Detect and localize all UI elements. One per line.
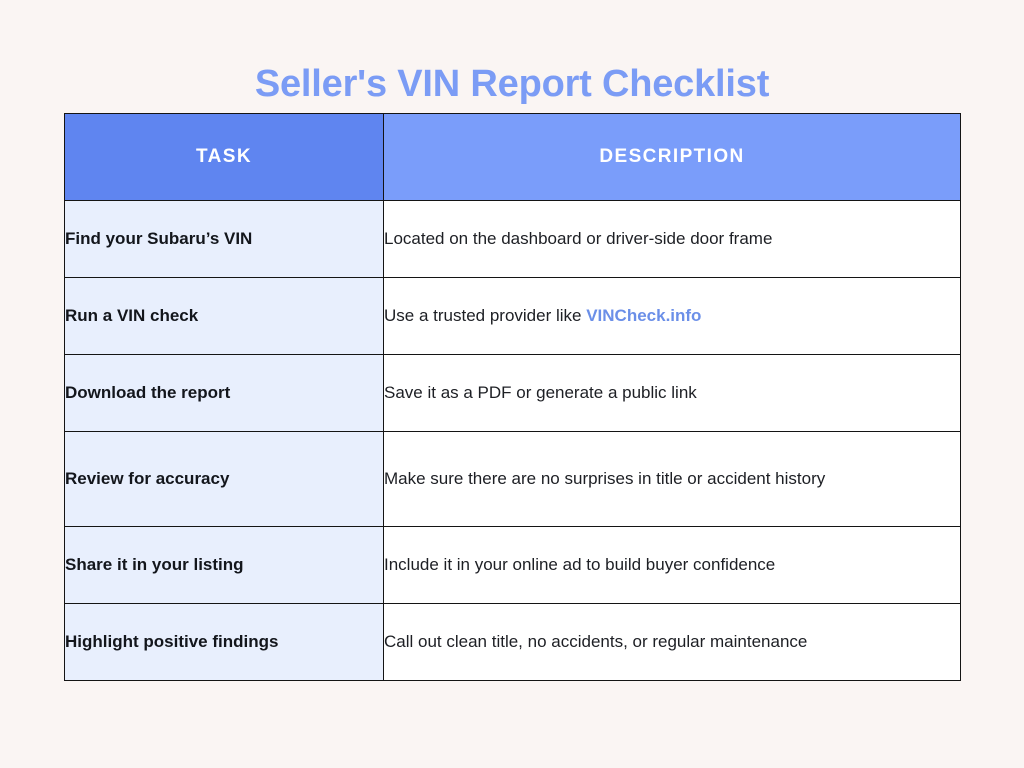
- task-cell: Download the report: [65, 355, 384, 432]
- task-cell: Run a VIN check: [65, 278, 384, 355]
- table-row: Share it in your listing Include it in y…: [65, 527, 961, 604]
- description-cell: Call out clean title, no accidents, or r…: [384, 604, 961, 681]
- page-title: Seller's VIN Report Checklist: [0, 63, 1024, 107]
- column-header-task: TASK: [65, 114, 384, 201]
- description-text: Use a trusted provider like: [384, 306, 586, 325]
- description-cell: Save it as a PDF or generate a public li…: [384, 355, 961, 432]
- task-cell: Find your Subaru’s VIN: [65, 201, 384, 278]
- vin-report-checklist-table: TASK DESCRIPTION Find your Subaru’s VIN …: [64, 113, 961, 681]
- task-cell: Review for accuracy: [65, 432, 384, 527]
- task-cell: Share it in your listing: [65, 527, 384, 604]
- table-header-row: TASK DESCRIPTION: [65, 114, 961, 201]
- description-text: Include it in your online ad to build bu…: [384, 555, 775, 574]
- table-row: Download the report Save it as a PDF or …: [65, 355, 961, 432]
- description-cell: Include it in your online ad to build bu…: [384, 527, 961, 604]
- table-row: Highlight positive findings Call out cle…: [65, 604, 961, 681]
- table-body: Find your Subaru’s VIN Located on the da…: [65, 201, 961, 681]
- column-header-description: DESCRIPTION: [384, 114, 961, 201]
- description-text: Located on the dashboard or driver-side …: [384, 229, 772, 248]
- table-row: Find your Subaru’s VIN Located on the da…: [65, 201, 961, 278]
- checklist-page: Seller's VIN Report Checklist TASK DESCR…: [0, 0, 1024, 768]
- description-text: Save it as a PDF or generate a public li…: [384, 383, 697, 402]
- description-cell: Use a trusted provider like VINCheck.inf…: [384, 278, 961, 355]
- description-cell: Make sure there are no surprises in titl…: [384, 432, 961, 527]
- table-row: Review for accuracy Make sure there are …: [65, 432, 961, 527]
- task-cell: Highlight positive findings: [65, 604, 384, 681]
- vincheck-info-link[interactable]: VINCheck.info: [586, 306, 701, 325]
- description-cell: Located on the dashboard or driver-side …: [384, 201, 961, 278]
- description-text: Make sure there are no surprises in titl…: [384, 469, 825, 488]
- description-text: Call out clean title, no accidents, or r…: [384, 632, 807, 651]
- table-row: Run a VIN check Use a trusted provider l…: [65, 278, 961, 355]
